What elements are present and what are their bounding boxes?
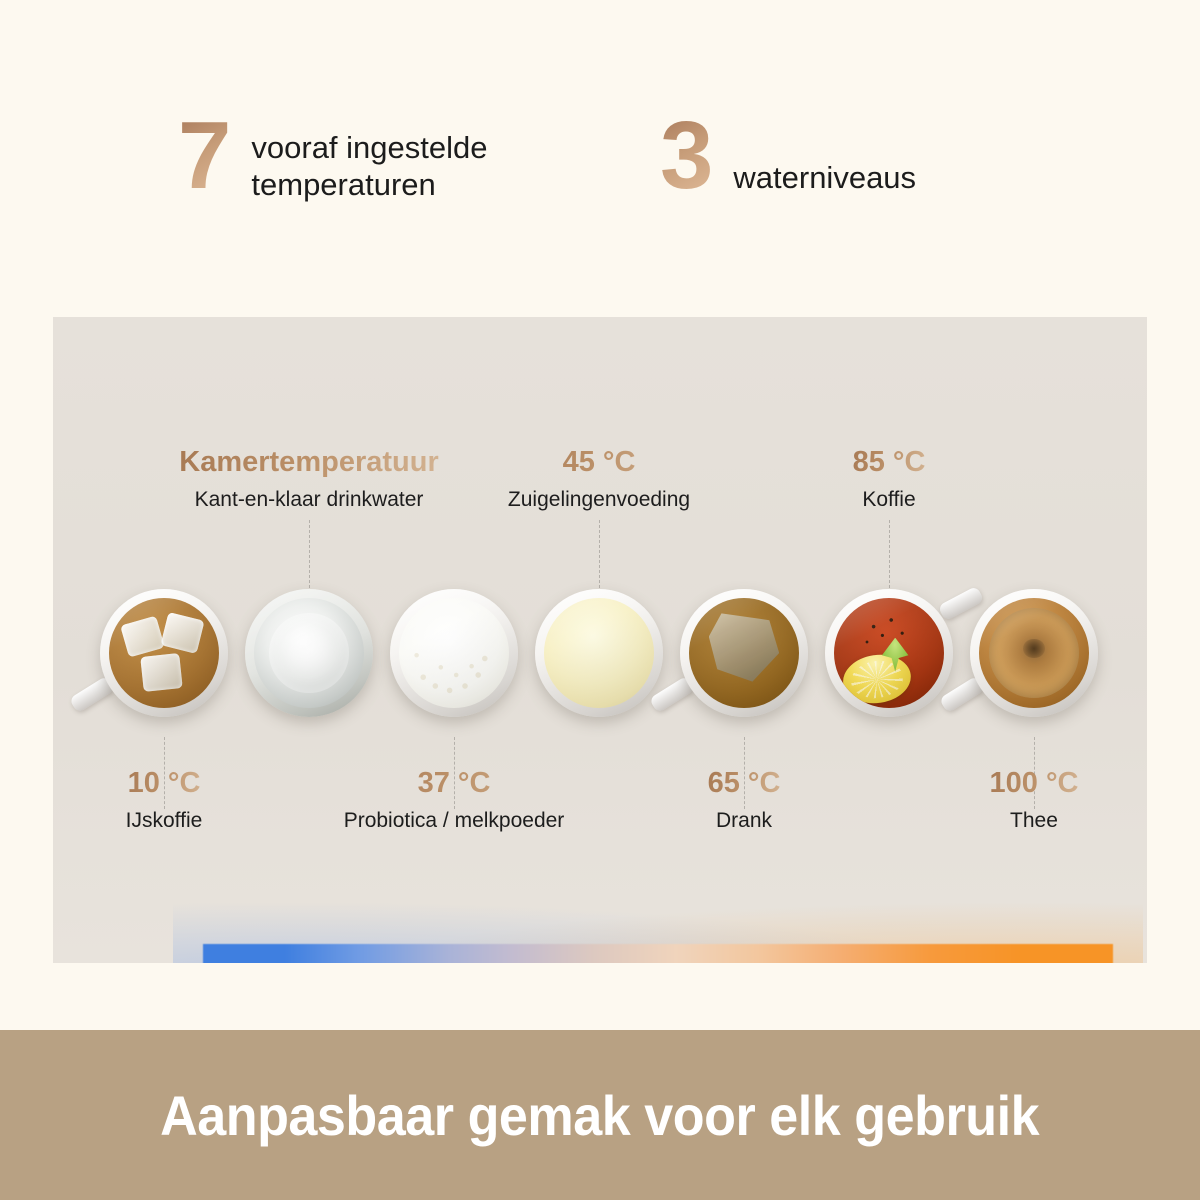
bottom-banner: Aanpasbaar gemak voor elk gebruik	[0, 1030, 1200, 1200]
cup-milk	[390, 589, 518, 717]
leader-line	[309, 520, 310, 588]
temperature-description: Koffie	[853, 488, 926, 512]
stat-levels-number: 3	[660, 112, 711, 200]
label-lemon-tea: 85 °CKoffie	[853, 446, 926, 512]
temperature-value: 37 °C	[344, 767, 565, 800]
cup-lemon-tea	[825, 589, 953, 717]
cup-formula	[535, 589, 663, 717]
temperature-value: 65 °C	[708, 767, 781, 800]
temperature-description: Probiotica / melkpoeder	[344, 809, 565, 833]
stat-levels: 3 waterniveaus	[660, 112, 916, 200]
leader-line	[889, 520, 890, 588]
temperature-value: 45 °C	[508, 446, 690, 479]
banner-text: Aanpasbaar gemak voor elk gebruik	[160, 1083, 1039, 1148]
label-milk: 37 °CProbiotica / melkpoeder	[344, 767, 565, 833]
temperature-description: IJskoffie	[126, 809, 203, 833]
label-tea-bag: 65 °CDrank	[708, 767, 781, 833]
cup-tea-bag	[680, 589, 808, 717]
temperature-value: 100 °C	[990, 767, 1079, 800]
cup-espresso	[970, 589, 1098, 717]
leader-line	[599, 520, 600, 588]
drink-iced-coffee	[100, 589, 228, 717]
label-formula: 45 °CZuigelingenvoeding	[508, 446, 690, 512]
drink-tea-bag	[680, 589, 808, 717]
temperature-description: Zuigelingenvoeding	[508, 488, 690, 512]
stat-presets-number: 7	[178, 112, 229, 200]
temperature-gradient-bar	[203, 944, 1113, 963]
drink-lemon-tea	[825, 589, 953, 717]
drink-water	[245, 589, 373, 717]
temperature-description: Thee	[990, 809, 1079, 833]
stat-levels-label: waterniveaus	[733, 160, 916, 197]
temperature-description: Drank	[708, 809, 781, 833]
temperature-value: 10 °C	[126, 767, 203, 800]
drink-espresso	[970, 589, 1098, 717]
drink-milk	[390, 589, 518, 717]
temperature-value: Kamertemperatuur	[179, 446, 438, 479]
cup-water	[245, 589, 373, 717]
temperature-chart-panel: 10 °CIJskoffieKamertemperatuurKant-en-kl…	[53, 317, 1147, 963]
label-water: KamertemperatuurKant-en-klaar drinkwater	[179, 446, 438, 512]
cup-iced-coffee	[100, 589, 228, 717]
drink-formula	[535, 589, 663, 717]
stat-presets: 7 vooraf ingesteldetemperaturen	[178, 112, 551, 203]
label-iced-coffee: 10 °CIJskoffie	[126, 767, 203, 833]
stat-presets-label: vooraf ingesteldetemperaturen	[251, 130, 551, 203]
label-espresso: 100 °CThee	[990, 767, 1079, 833]
header-stats: 7 vooraf ingesteldetemperaturen 3 watern…	[0, 0, 1200, 300]
temperature-description: Kant-en-klaar drinkwater	[179, 488, 438, 512]
temperature-value: 85 °C	[853, 446, 926, 479]
